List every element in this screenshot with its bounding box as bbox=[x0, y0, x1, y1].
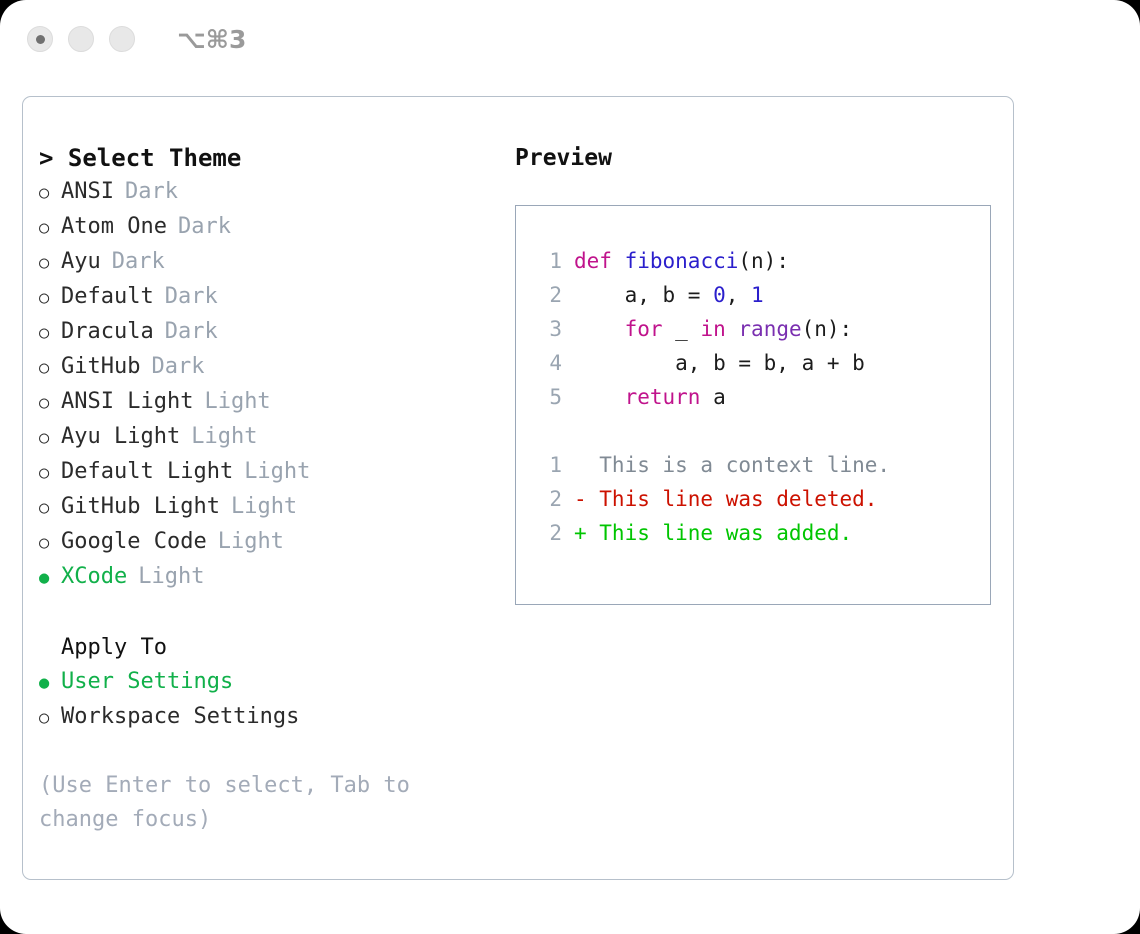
radio-unselected-icon: ○ bbox=[39, 176, 61, 210]
keyboard-hint-text: (Use Enter to select, Tab to change focu… bbox=[39, 769, 443, 837]
radio-unselected-icon: ○ bbox=[39, 316, 61, 350]
code-line-text: for _ in range(n): bbox=[574, 312, 852, 346]
code-line: 5 return a bbox=[534, 380, 990, 414]
apply-to-heading: Apply To bbox=[39, 631, 489, 665]
theme-name: ANSI Light bbox=[61, 385, 193, 419]
window-dot-active-inner-icon bbox=[36, 35, 45, 44]
theme-kind-label: Dark bbox=[125, 175, 178, 209]
theme-picker-panel: > Select Theme ○ANSIDark○Atom OneDark○Ay… bbox=[22, 96, 1014, 880]
theme-name: Google Code bbox=[61, 525, 207, 559]
theme-kind-label: Dark bbox=[151, 350, 204, 384]
diff-line-context-text: This is a context line. bbox=[574, 448, 890, 482]
select-theme-heading-text: Select Theme bbox=[68, 144, 241, 172]
radio-unselected-icon: ○ bbox=[39, 281, 61, 315]
theme-list-item[interactable]: ○Google CodeLight bbox=[39, 525, 489, 560]
window-dot-2-icon[interactable] bbox=[68, 26, 94, 52]
theme-kind-label: Light bbox=[191, 420, 257, 454]
radio-unselected-icon: ○ bbox=[39, 386, 61, 420]
theme-kind-label: Light bbox=[231, 490, 297, 524]
code-token-plain bbox=[726, 317, 739, 341]
code-line-text: a, b = b, a + b bbox=[574, 346, 865, 380]
diff-line-added-text: + This line was added. bbox=[574, 516, 852, 550]
code-token-plain: a, b = b, a + b bbox=[574, 351, 865, 375]
keyboard-shortcut-label: ⌥⌘3 bbox=[177, 25, 246, 54]
theme-list: ○ANSIDark○Atom OneDark○AyuDark○DefaultDa… bbox=[39, 175, 489, 595]
code-diff-spacer bbox=[534, 414, 990, 448]
code-token-fn: fibonacci bbox=[625, 249, 739, 273]
code-token-plain: a, b = bbox=[574, 283, 713, 307]
apply-to-label: Workspace Settings bbox=[61, 700, 299, 734]
theme-kind-label: Light bbox=[138, 560, 204, 594]
radio-unselected-icon: ○ bbox=[39, 351, 61, 385]
theme-kind-label: Light bbox=[218, 525, 284, 559]
theme-kind-label: Dark bbox=[178, 210, 231, 244]
theme-list-item[interactable]: ○Ayu LightLight bbox=[39, 420, 489, 455]
panel-columns: > Select Theme ○ANSIDark○Atom OneDark○Ay… bbox=[23, 97, 1013, 837]
theme-list-item[interactable]: ○GitHubDark bbox=[39, 350, 489, 385]
radio-unselected-icon: ○ bbox=[39, 526, 61, 560]
radio-unselected-icon: ○ bbox=[39, 421, 61, 455]
line-number: 2 bbox=[534, 516, 562, 550]
line-number: 1 bbox=[534, 448, 562, 482]
diff-line-deleted-text: - This line was deleted. bbox=[574, 482, 877, 516]
theme-name: GitHub Light bbox=[61, 490, 220, 524]
window-controls bbox=[27, 26, 135, 52]
window-dot-3-icon[interactable] bbox=[109, 26, 135, 52]
preview-column: Preview 1def fibonacci(n):2 a, b = 0, 13… bbox=[489, 141, 1013, 837]
code-token-num: 1 bbox=[751, 283, 764, 307]
line-number: 3 bbox=[534, 312, 562, 346]
radio-unselected-icon: ○ bbox=[39, 456, 61, 490]
theme-name: GitHub bbox=[61, 350, 140, 384]
theme-kind-label: Light bbox=[204, 385, 270, 419]
radio-unselected-icon: ○ bbox=[39, 491, 61, 525]
diff-line: 1 This is a context line. bbox=[534, 448, 990, 482]
window-dot-active-icon[interactable] bbox=[27, 26, 53, 52]
theme-name: Default Light bbox=[61, 455, 233, 489]
theme-list-item[interactable]: ○GitHub LightLight bbox=[39, 490, 489, 525]
code-token-kw: def bbox=[574, 249, 612, 273]
code-line-text: return a bbox=[574, 380, 726, 414]
radio-unselected-icon: ○ bbox=[39, 246, 61, 280]
code-line-text: a, b = 0, 1 bbox=[574, 278, 764, 312]
code-token-plain bbox=[574, 385, 625, 409]
code-line: 4 a, b = b, a + b bbox=[534, 346, 990, 380]
radio-selected-icon: ● bbox=[39, 561, 61, 595]
code-token-plain: (n): bbox=[738, 249, 789, 273]
preview-title: Preview bbox=[515, 141, 1013, 175]
theme-name: Ayu Light bbox=[61, 420, 180, 454]
code-line-text: def fibonacci(n): bbox=[574, 244, 789, 278]
theme-name: Atom One bbox=[61, 210, 167, 244]
theme-list-item[interactable]: ○DefaultDark bbox=[39, 280, 489, 315]
prompt-caret-icon: > bbox=[39, 144, 68, 172]
diff-line: 2- This line was deleted. bbox=[534, 482, 990, 516]
diff-line: 2+ This line was added. bbox=[534, 516, 990, 550]
code-token-plain bbox=[574, 317, 625, 341]
theme-list-item[interactable]: ○ANSIDark bbox=[39, 175, 489, 210]
theme-kind-label: Dark bbox=[165, 315, 218, 349]
code-token-plain: _ bbox=[663, 317, 701, 341]
theme-name: XCode bbox=[61, 560, 127, 594]
code-token-kw: in bbox=[700, 317, 725, 341]
line-number: 2 bbox=[534, 278, 562, 312]
code-token-kw: return bbox=[625, 385, 701, 409]
apply-to-list: ●User Settings○Workspace Settings bbox=[39, 665, 489, 735]
code-token-plain bbox=[612, 249, 625, 273]
theme-name: ANSI bbox=[61, 175, 114, 209]
theme-list-item[interactable]: ○ANSI LightLight bbox=[39, 385, 489, 420]
theme-list-item[interactable]: ○AyuDark bbox=[39, 245, 489, 280]
select-theme-heading: > Select Theme bbox=[39, 141, 489, 175]
theme-name: Ayu bbox=[61, 245, 101, 279]
apply-to-label: User Settings bbox=[61, 665, 233, 699]
theme-selection-column: > Select Theme ○ANSIDark○Atom OneDark○Ay… bbox=[39, 141, 489, 837]
radio-unselected-icon: ○ bbox=[39, 701, 61, 735]
apply-to-item[interactable]: ○Workspace Settings bbox=[39, 700, 489, 735]
code-token-bi: range bbox=[738, 317, 801, 341]
app-window: ⌥⌘3 > Select Theme ○ANSIDark○Atom OneDar… bbox=[0, 0, 1140, 934]
line-number: 1 bbox=[534, 244, 562, 278]
code-sample: 1def fibonacci(n):2 a, b = 0, 13 for _ i… bbox=[534, 244, 990, 414]
line-number: 5 bbox=[534, 380, 562, 414]
code-token-kw: for bbox=[625, 317, 663, 341]
theme-list-item[interactable]: ○Default LightLight bbox=[39, 455, 489, 490]
theme-kind-label: Light bbox=[244, 455, 310, 489]
apply-to-item[interactable]: ●User Settings bbox=[39, 665, 489, 700]
diff-sample: 1 This is a context line.2- This line wa… bbox=[534, 448, 990, 550]
theme-list-item[interactable]: ○DraculaDark bbox=[39, 315, 489, 350]
section-spacer bbox=[39, 595, 489, 631]
code-line: 1def fibonacci(n): bbox=[534, 244, 990, 278]
theme-list-item[interactable]: ○Atom OneDark bbox=[39, 210, 489, 245]
code-token-num: 0 bbox=[713, 283, 726, 307]
line-number: 4 bbox=[534, 346, 562, 380]
line-number: 2 bbox=[534, 482, 562, 516]
radio-selected-icon: ● bbox=[39, 666, 61, 700]
title-bar: ⌥⌘3 bbox=[0, 0, 1140, 78]
code-line: 3 for _ in range(n): bbox=[534, 312, 990, 346]
theme-kind-label: Dark bbox=[165, 280, 218, 314]
theme-name: Default bbox=[61, 280, 154, 314]
code-token-plain: (n): bbox=[802, 317, 853, 341]
radio-unselected-icon: ○ bbox=[39, 211, 61, 245]
theme-kind-label: Dark bbox=[112, 245, 165, 279]
theme-list-item[interactable]: ●XCodeLight bbox=[39, 560, 489, 595]
code-token-plain: a bbox=[700, 385, 725, 409]
code-token-plain: , bbox=[726, 283, 751, 307]
preview-box: 1def fibonacci(n):2 a, b = 0, 13 for _ i… bbox=[515, 205, 991, 605]
theme-name: Dracula bbox=[61, 315, 154, 349]
code-line: 2 a, b = 0, 1 bbox=[534, 278, 990, 312]
